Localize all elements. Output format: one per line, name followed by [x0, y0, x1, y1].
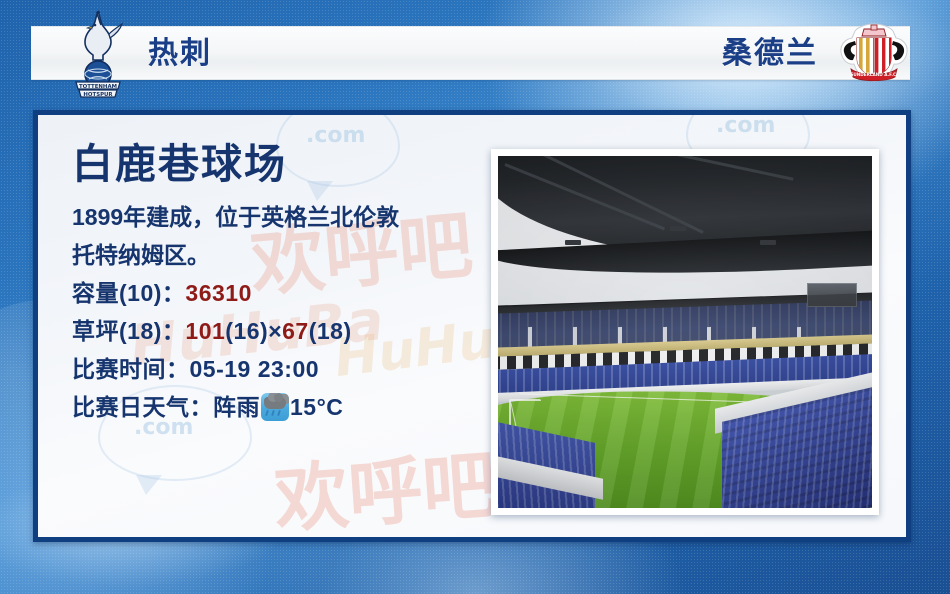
- stadium-title: 白鹿巷球场: [72, 143, 492, 186]
- capacity-value: 36310: [185, 280, 251, 306]
- svg-text:HOTSPUR: HOTSPUR: [83, 92, 113, 98]
- sunderland-afc-crest: SUNDERLAND A.F.C.: [838, 22, 910, 84]
- stadium-description-line-1: 1899年建成，位于英格兰北伦敦: [72, 198, 492, 236]
- pitch-label: 草坪(18)：: [72, 318, 185, 344]
- pitch-length-rank: (16): [225, 318, 268, 344]
- svg-text:SUNDERLAND A.F.C.: SUNDERLAND A.F.C.: [850, 72, 898, 77]
- watermark-domain-top2: .com: [716, 115, 775, 138]
- pitch-multiply-sign: ×: [268, 318, 282, 344]
- stadium-info-block: 白鹿巷球场 1899年建成，位于英格兰北伦敦 托特纳姆区。 容量(10)：363…: [72, 143, 492, 426]
- match-time-label: 比赛时间：: [72, 356, 190, 382]
- away-team-name: 桑德兰: [722, 32, 818, 76]
- weather-label: 比赛日天气：: [72, 394, 213, 420]
- weather-row: 比赛日天气：阵雨15°C: [72, 388, 492, 426]
- capacity-label: 容量(10)：: [72, 280, 185, 306]
- pitch-length-value: 101: [185, 318, 225, 344]
- watermark-brand-cn-bottom: 欢呼吧: [271, 425, 500, 537]
- pitch-size-row: 草坪(18)：101(16)×67(18): [72, 312, 492, 350]
- home-team-name: 热刺: [148, 32, 212, 76]
- photo-floodlight: [760, 240, 776, 245]
- match-time-value: 05-19 23:00: [190, 356, 320, 382]
- photo-floodlight: [670, 226, 686, 231]
- slide-root: TOTTENHAM HOTSPUR 热刺 桑德兰: [0, 0, 950, 594]
- svg-text:TOTTENHAM: TOTTENHAM: [79, 84, 117, 90]
- weather-condition: 阵雨: [213, 394, 260, 420]
- photo-gangway: [528, 327, 532, 348]
- weather-temperature: 15°C: [290, 394, 343, 420]
- capacity-row: 容量(10)：36310: [72, 274, 492, 312]
- photo-floodlight: [565, 240, 581, 245]
- stadium-photo-frame: [491, 149, 879, 515]
- tottenham-hotspur-crest: TOTTENHAM HOTSPUR: [66, 8, 130, 100]
- match-time-row: 比赛时间：05-19 23:00: [72, 350, 492, 388]
- white-hart-lane-stadium-photo: [498, 156, 872, 508]
- stadium-description-line-2: 托特纳姆区。: [72, 236, 492, 274]
- shower-rain-icon: [261, 393, 289, 421]
- pitch-width-value: 67: [282, 318, 309, 344]
- pitch-width-rank: (18): [309, 318, 352, 344]
- panel-inner: .com .com HuHuBa .com 欢呼吧 欢呼吧 HuHuBa 白鹿巷…: [38, 115, 906, 537]
- stadium-info-panel: .com .com HuHuBa .com 欢呼吧 欢呼吧 HuHuBa 白鹿巷…: [33, 110, 911, 542]
